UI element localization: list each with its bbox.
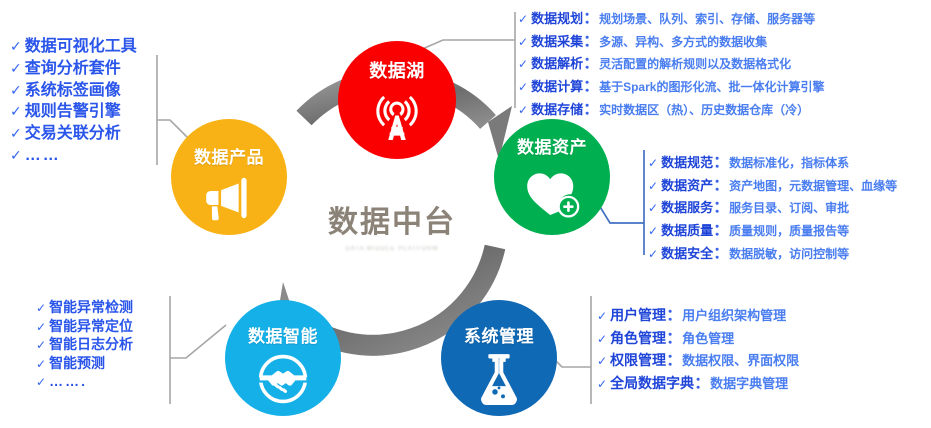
note-line: ✓智能日志分析 [36,335,133,354]
notes-data-lake: ✓数据规划：规划场景、队列、索引、存储、服务器等✓数据采集：多源、异构、多方式的… [518,8,824,122]
check-icon: ✓ [10,59,22,78]
note-description: 服务目录、订阅、审批 [729,200,849,217]
center-subtitle: DATA MIDDLE PLATFORM [302,246,482,252]
note-line: ✓角色管理：角色管理 [597,328,799,351]
note-term: ……. [49,372,87,390]
note-separator: ： [666,350,682,373]
check-icon: ✓ [597,331,607,348]
notes-data-product: ✓数据可视化工具✓查询分析套件✓系统标签画像✓规则告警引擎✓交易关联分析✓…… [10,36,137,167]
diagram-canvas: 数据中台 DATA MIDDLE PLATFORM 数据湖 数据资产 [0,0,931,428]
note-description: 实时数据区（热）、历史数据仓库（冷） [599,102,809,119]
check-icon: ✓ [36,338,46,354]
note-line: ✓…… [10,145,137,167]
note-line: ✓数据计算：基于Spark的图形化流、批一体化计算引擎 [518,76,824,99]
note-description: 多源、异构、多方式的数据收集 [599,34,767,51]
note-term: 数据计算 [531,78,583,96]
note-term: 角色管理 [610,329,666,349]
check-icon: ✓ [36,375,46,391]
check-icon: ✓ [648,246,658,263]
note-line: ✓数据规范：数据标准化，指标体系 [648,152,897,175]
check-icon: ✓ [36,357,46,373]
note-line: ✓数据资产：资产地图，元数据管理、血缘等 [648,175,897,198]
note-line: ✓数据服务：服务目录、订阅、审批 [648,197,897,220]
note-separator: ： [666,305,682,328]
note-line: ✓用户管理：用户组织架构管理 [597,305,799,328]
check-icon: ✓ [518,11,528,28]
megaphone-icon [200,160,258,235]
node-data-product[interactable]: 数据产品 [171,119,287,235]
note-line: ✓智能异常检测 [36,298,133,317]
note-term: 智能日志分析 [49,335,133,353]
note-line: ✓智能预测 [36,354,133,373]
note-description: 数据权限、界面权限 [682,352,799,370]
check-icon: ✓ [597,376,607,393]
note-line: ✓数据可视化工具 [10,36,137,58]
note-separator: ： [583,53,599,76]
note-line: ✓数据安全：数据脱敏，访问控制等 [648,243,897,266]
note-term: 智能预测 [49,354,105,372]
broadcast-tower-icon [369,79,425,159]
note-description: 灵活配置的解析规则以及数据格式化 [599,56,791,73]
note-line: ✓查询分析套件 [10,58,137,80]
check-icon: ✓ [10,81,22,100]
check-icon: ✓ [518,102,528,119]
check-icon: ✓ [36,320,46,336]
note-line: ✓规则告警引擎 [10,101,137,123]
note-line: ✓权限管理：数据权限、界面权限 [597,350,799,373]
note-term: 数据规范 [661,154,713,172]
check-icon: ✓ [518,79,528,96]
notes-data-asset: ✓数据规范：数据标准化，指标体系✓数据资产：资产地图，元数据管理、血缘等✓数据服… [648,152,897,266]
note-description: 数据字典管理 [710,375,788,393]
check-icon: ✓ [36,301,46,317]
heart-plus-icon [521,148,583,235]
note-term: 数据存储 [531,101,583,119]
node-system-management[interactable]: 系统管理 [441,300,557,416]
note-description: 规划场景、队列、索引、存储、服务器等 [599,11,815,28]
note-description: 基于Spark的图形化流、批一体化计算引擎 [599,79,824,96]
check-icon: ✓ [597,308,607,325]
note-term: …… [25,145,61,167]
note-separator: ： [713,175,729,198]
note-description: 数据标准化，指标体系 [729,155,849,172]
note-separator: ： [583,31,599,54]
note-separator: ： [583,76,599,99]
check-icon: ✓ [648,178,658,195]
note-line: ✓全局数据字典：数据字典管理 [597,373,799,396]
note-description: 角色管理 [682,330,734,348]
note-description: 用户组织架构管理 [682,307,786,325]
center-label-group: 数据中台 DATA MIDDLE PLATFORM [302,206,482,252]
note-term: 数据质量 [661,222,713,240]
note-term: 交易关联分析 [25,123,121,145]
node-data-lake[interactable]: 数据湖 [338,41,456,159]
note-term: 数据采集 [531,33,583,51]
node-data-asset[interactable]: 数据资产 [494,119,610,235]
note-term: 权限管理 [610,351,666,371]
check-icon: ✓ [10,124,22,143]
note-term: 智能异常定位 [49,317,133,335]
note-line: ✓数据规划：规划场景、队列、索引、存储、服务器等 [518,8,824,31]
note-term: 规则告警引擎 [25,101,121,123]
note-separator: ： [666,328,682,351]
node-data-intelligence[interactable]: 数据智能 [225,300,341,416]
note-separator: ： [583,8,599,31]
note-line: ✓数据存储：实时数据区（热）、历史数据仓库（冷） [518,99,824,122]
connector-data-intelligence [170,296,226,404]
check-icon: ✓ [10,102,22,121]
note-line: ✓智能异常定位 [36,317,133,336]
note-term: 全局数据字典 [610,374,694,394]
check-icon: ✓ [597,353,607,370]
note-line: ✓交易关联分析 [10,123,137,145]
check-icon: ✓ [10,146,22,165]
notes-system-management: ✓用户管理：用户组织架构管理✓角色管理：角色管理✓权限管理：数据权限、界面权限✓… [597,305,799,396]
check-icon: ✓ [648,223,658,240]
check-icon: ✓ [10,37,22,56]
note-line: ✓……. [36,372,133,391]
check-icon: ✓ [518,34,528,51]
note-term: 数据规划 [531,10,583,28]
check-icon: ✓ [648,200,658,217]
note-term: 数据可视化工具 [25,36,137,58]
note-description: 数据脱敏，访问控制等 [729,246,849,263]
note-separator: ： [713,197,729,220]
note-line: ✓数据质量：质量规则，质量报告等 [648,220,897,243]
note-term: 智能异常检测 [49,298,133,316]
note-term: 查询分析套件 [25,58,121,80]
note-term: 数据资产 [661,177,713,195]
note-term: 数据服务 [661,199,713,217]
note-term: 用户管理 [610,306,666,326]
note-line: ✓数据采集：多源、异构、多方式的数据收集 [518,31,824,54]
flask-icon [475,341,523,416]
handshake-icon [254,341,312,416]
note-term: 数据解析 [531,55,583,73]
check-icon: ✓ [518,56,528,73]
note-term: 数据安全 [661,245,713,263]
note-separator: ： [713,152,729,175]
note-description: 质量规则，质量报告等 [729,223,849,240]
note-separator: ： [694,373,710,396]
note-line: ✓数据解析：灵活配置的解析规则以及数据格式化 [518,53,824,76]
notes-data-intelligence: ✓智能异常检测✓智能异常定位✓智能日志分析✓智能预测✓……. [36,298,133,391]
note-separator: ： [713,220,729,243]
note-term: 系统标签画像 [25,80,121,102]
note-separator: ： [713,243,729,266]
note-description: 资产地图，元数据管理、血缘等 [729,178,897,195]
page-title: 数据中台 [302,206,482,239]
note-line: ✓系统标签画像 [10,80,137,102]
check-icon: ✓ [648,155,658,172]
note-separator: ： [583,99,599,122]
